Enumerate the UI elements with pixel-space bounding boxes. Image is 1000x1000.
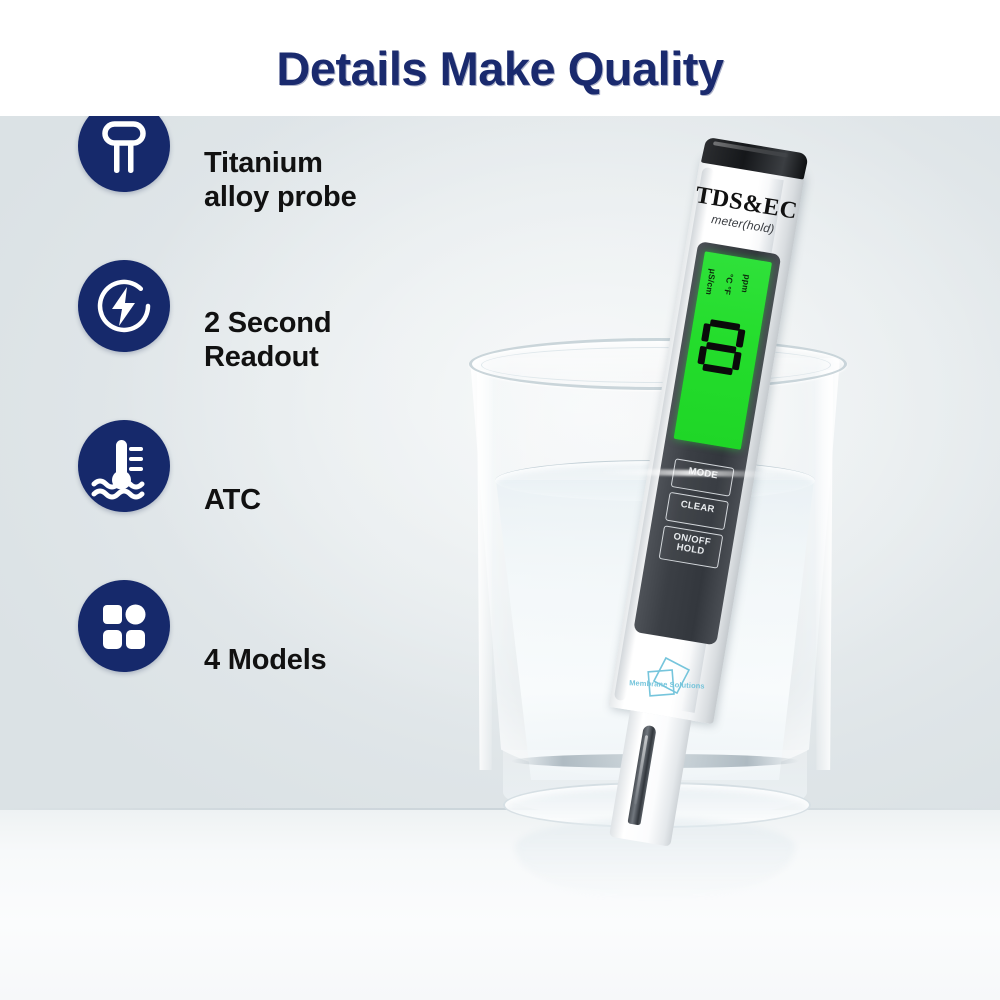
lcd-unit-ppm: ppm	[740, 274, 753, 294]
feature-item: 2 Second Readout	[78, 260, 498, 420]
header-band: Details Make Quality	[0, 0, 1000, 116]
page-title: Details Make Quality	[0, 41, 1000, 96]
feature-item: ATC	[78, 420, 498, 580]
lcd-digit-zero	[696, 318, 746, 376]
glass-highlight-right	[815, 370, 833, 770]
feature-badge	[78, 420, 170, 512]
mode-button[interactable]: MODE	[671, 458, 735, 497]
lightning-icon	[78, 260, 170, 352]
feature-label: Titanium alloy probe	[204, 146, 357, 214]
thermometer-water-icon	[78, 420, 170, 512]
feature-item: 4 Models	[78, 580, 498, 740]
grid-four-icon	[78, 580, 170, 672]
product-infographic: Details Make Quality Titanium alloy prob…	[0, 0, 1000, 1000]
feature-badge	[78, 580, 170, 672]
feature-list: Titanium alloy probe 2 Second Readout	[78, 100, 498, 740]
feature-item: Titanium alloy probe	[78, 100, 498, 260]
feature-badge	[78, 260, 170, 352]
lcd-unit-temp: °C °F	[722, 273, 735, 296]
feature-label: ATC	[204, 483, 261, 517]
onoff-hold-button[interactable]: ON/OFF HOLD	[659, 525, 724, 568]
lcd-unit-uscm: μS/cm	[704, 268, 718, 296]
clear-button[interactable]: CLEAR	[665, 492, 729, 531]
lcd-unit-labels: μS/cm °C °F ppm	[700, 264, 766, 317]
feature-label: 4 Models	[204, 643, 327, 677]
feature-label: 2 Second Readout	[204, 306, 331, 374]
